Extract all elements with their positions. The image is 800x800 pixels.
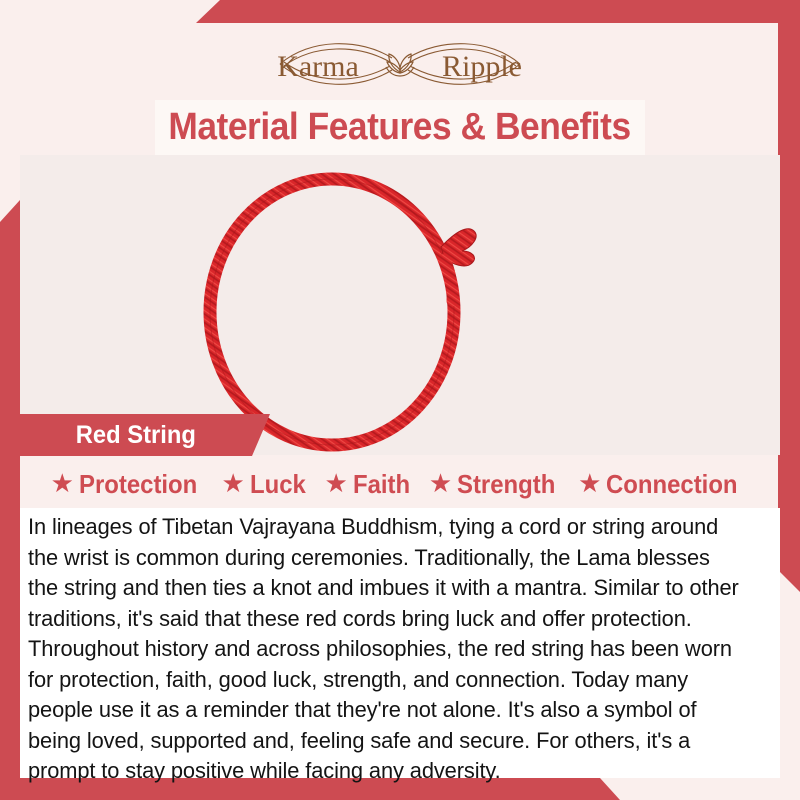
brand-name-left: Karma — [277, 50, 359, 83]
benefit-label: Strength — [457, 469, 555, 500]
star-icon: ★ — [51, 470, 74, 496]
benefits-row: ★ Protection ★ Luck ★ Faith ★ Strength ★… — [20, 464, 780, 504]
benefit-label: Protection — [79, 469, 197, 500]
decorative-top-bar — [0, 0, 800, 23]
benefit-item: ★ Connection — [573, 469, 754, 500]
red-string-bracelet-illustration — [20, 155, 780, 455]
benefit-item: ★ Strength — [424, 469, 569, 500]
brand-logo: Karma Ripple — [0, 34, 800, 94]
description-block: In lineages of Tibetan Vajrayana Buddhis… — [20, 508, 780, 778]
material-ribbon: Red String — [18, 414, 270, 456]
benefit-item: ★ Faith — [319, 469, 419, 500]
benefit-item: ★ Luck — [216, 469, 315, 500]
star-icon: ★ — [578, 470, 601, 496]
product-photo — [20, 155, 780, 455]
star-icon: ★ — [324, 470, 347, 496]
decorative-left-strip — [0, 200, 20, 800]
benefit-item: ★ Protection — [46, 469, 213, 500]
benefit-label: Connection — [606, 469, 738, 500]
material-name: Red String — [23, 421, 196, 450]
page-title: Material Features & Benefits — [169, 106, 631, 149]
title-band: Material Features & Benefits — [155, 100, 645, 155]
benefit-label: Faith — [353, 469, 410, 500]
brand-wordmark-svg: Karma Ripple — [240, 34, 560, 92]
infographic-page: Karma Ripple Material Features & Benefit… — [0, 0, 800, 800]
star-icon: ★ — [429, 470, 452, 496]
description-text: In lineages of Tibetan Vajrayana Buddhis… — [28, 512, 744, 787]
benefit-label: Luck — [250, 469, 306, 500]
star-icon: ★ — [221, 470, 244, 496]
brand-name-right: Ripple — [442, 50, 522, 83]
